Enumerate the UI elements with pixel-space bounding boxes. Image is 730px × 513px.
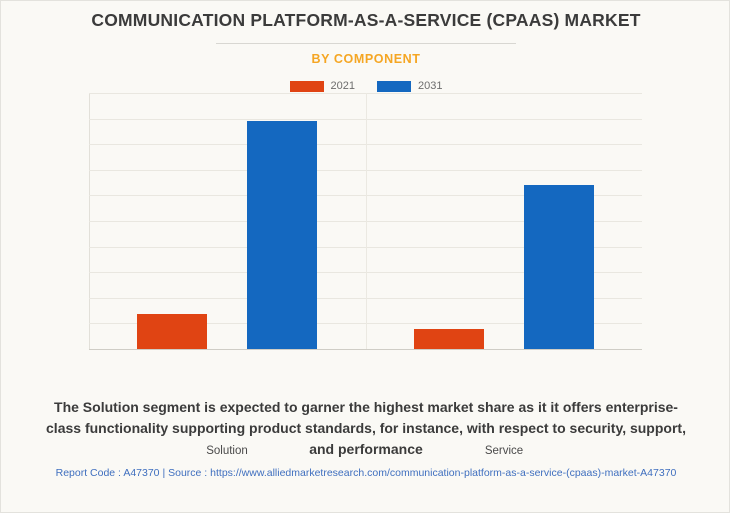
title-divider bbox=[216, 43, 516, 44]
x-axis-line bbox=[89, 349, 642, 350]
legend-item-2031[interactable]: 2031 bbox=[377, 80, 442, 92]
chart-legend: 2021 2031 bbox=[1, 80, 730, 92]
legend-label-2031: 2031 bbox=[418, 80, 442, 92]
legend-swatch-2031 bbox=[377, 81, 411, 92]
footer-source: Report Code : A47370 | Source : https://… bbox=[26, 465, 706, 482]
report-code: Report Code : A47370 bbox=[56, 467, 160, 479]
chart-page: COMMUNICATION PLATFORM-AS-A-SERVICE (CPA… bbox=[0, 0, 730, 513]
source-label: Source : bbox=[168, 467, 207, 479]
legend-label-2021: 2021 bbox=[331, 80, 355, 92]
bar-service-2031[interactable] bbox=[524, 185, 594, 349]
plot-area: SolutionService bbox=[89, 93, 642, 349]
bar-solution-2021[interactable] bbox=[137, 314, 207, 349]
source-url-link[interactable]: https://www.alliedmarketresearch.com/com… bbox=[210, 467, 676, 479]
bar-service-2021[interactable] bbox=[414, 329, 484, 349]
legend-swatch-2021 bbox=[290, 81, 324, 92]
category-separator bbox=[366, 93, 367, 349]
page-title: COMMUNICATION PLATFORM-AS-A-SERVICE (CPA… bbox=[1, 10, 730, 31]
bar-solution-2031[interactable] bbox=[247, 121, 317, 349]
footer-separator: | bbox=[162, 467, 165, 479]
chart-subtitle: BY COMPONENT bbox=[1, 52, 730, 66]
legend-item-2021[interactable]: 2021 bbox=[290, 80, 355, 92]
chart-caption: The Solution segment is expected to garn… bbox=[46, 397, 686, 460]
